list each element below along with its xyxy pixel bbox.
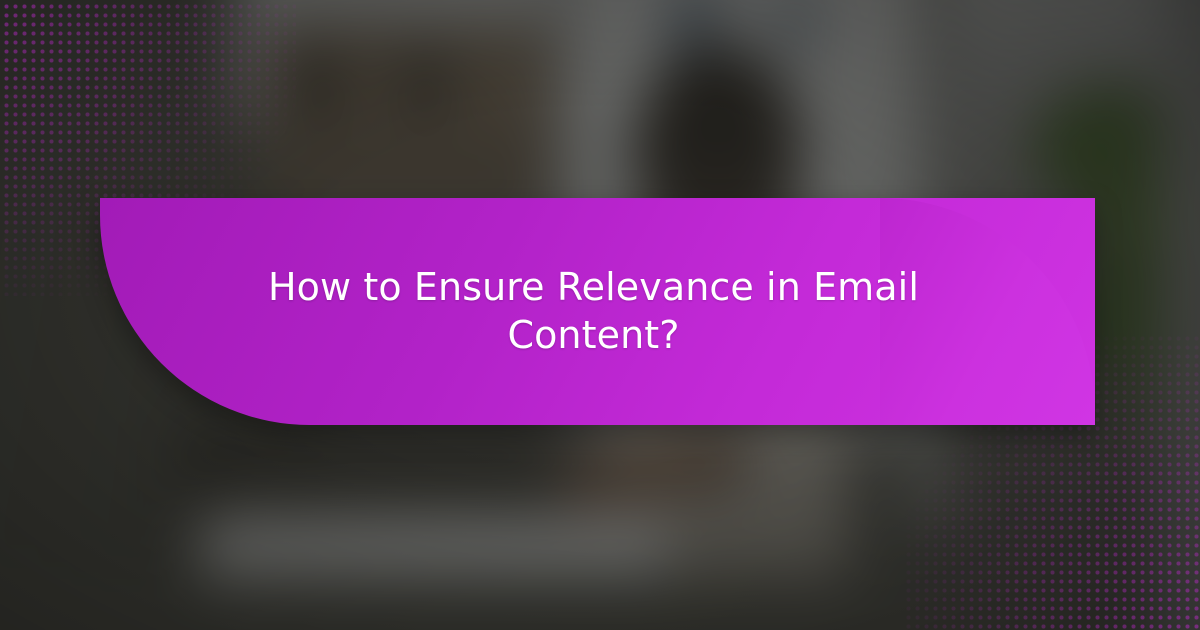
page-title: How to Ensure Relevance in Email Content…	[100, 198, 1095, 425]
share-card: How to Ensure Relevance in Email Content…	[0, 0, 1200, 630]
title-banner: How to Ensure Relevance in Email Content…	[100, 198, 1095, 425]
